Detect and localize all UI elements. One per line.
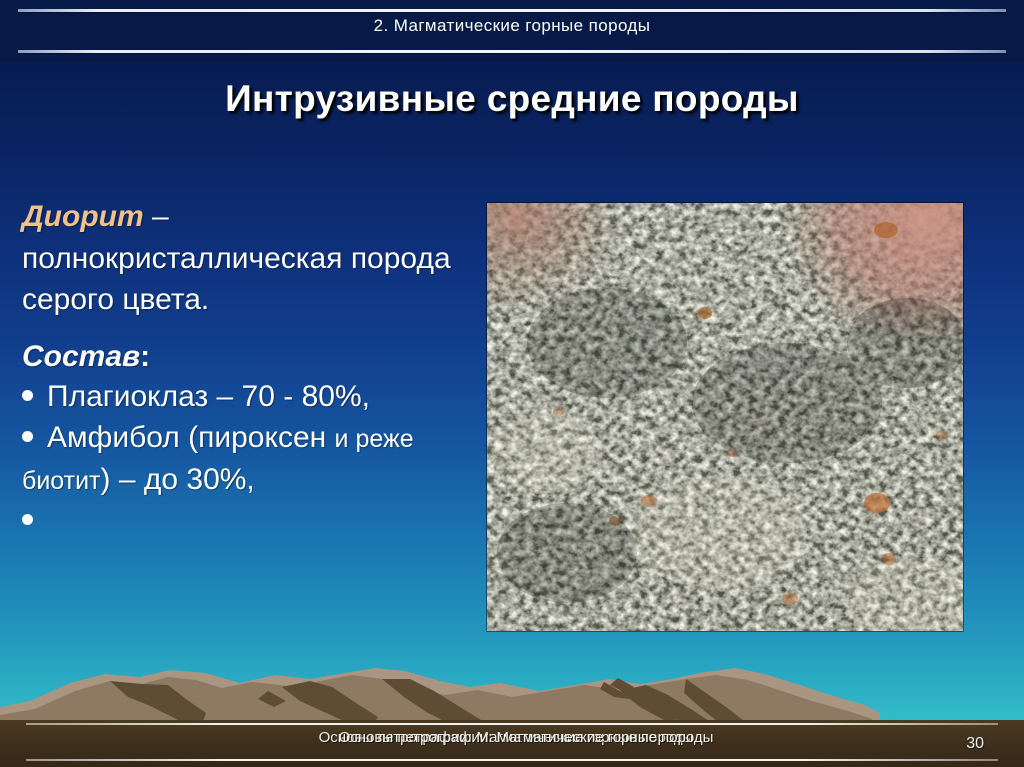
list-item-text-tail: ) – до 30%, [101,463,255,496]
composition-heading-label: Состав [22,340,140,373]
composition-heading: Состав: [22,337,477,376]
header-title: 2. Магматические горные породы [0,16,1024,36]
list-item: Амфибол (пироксен и реже биотит) – до 30… [22,417,477,500]
header-rule-top [18,9,1006,12]
page-number: 30 [966,735,984,753]
footer: Основы петрографии: Магматические горные… [0,729,1024,753]
composition-list: Плагиоклаз – 70 - 80%, Амфибол (пироксен… [22,376,477,542]
term-paragraph: Диорит – полнокристаллическая порода сер… [22,196,477,321]
bullet-dot-icon [22,390,33,401]
composition-heading-colon: : [140,340,150,373]
header-band: 2. Магматические горные породы [0,0,1024,62]
list-item: Плагиоклаз – 70 - 80%, [22,376,477,417]
content-column: Диорит – полнокристаллическая порода сер… [22,196,477,542]
footer-rule-top [26,723,998,725]
bullet-dot-icon [22,431,33,442]
page-title: Интрузивные средние породы [0,78,1024,120]
footer-rule-bottom [26,759,998,761]
bullet-dot-icon [22,514,33,525]
header-rule-bottom [18,50,1006,53]
list-item-text: Амфибол (пироксен [47,421,326,454]
slide: 2. Магматические горные породы Интрузивн… [0,0,1024,767]
footer-text-layer-b: Основы петрографии: Магматические горные… [14,729,1024,746]
list-item [22,500,477,541]
term-label: Диорит [22,200,144,233]
list-item-text: Плагиоклаз – 70 - 80%, [47,380,370,413]
diorite-texture-image [487,203,963,631]
rock-photo [487,203,963,631]
